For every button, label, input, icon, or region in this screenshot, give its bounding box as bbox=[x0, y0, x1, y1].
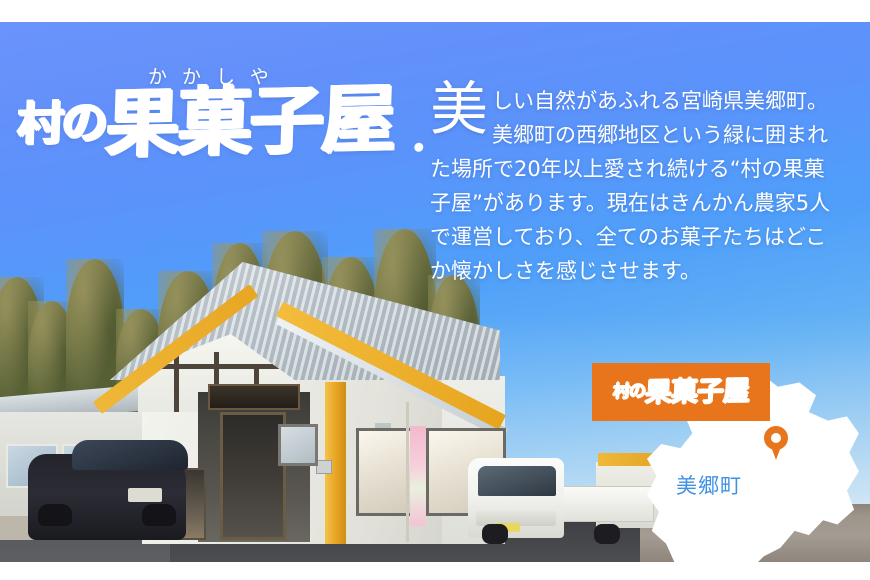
truck-windshield bbox=[478, 466, 556, 496]
description-drop-cap: 美 bbox=[430, 86, 488, 134]
entrance-door bbox=[220, 412, 286, 540]
building-window-small bbox=[278, 424, 318, 466]
badge-main: 果菓子屋 bbox=[644, 375, 749, 408]
brand-name-prefix: 村の bbox=[17, 95, 107, 151]
car-license-plate bbox=[128, 488, 162, 502]
car-rear-window bbox=[72, 440, 188, 470]
brand-badge-text: 村の果菓子屋 bbox=[612, 377, 749, 406]
truck-wheel bbox=[594, 524, 620, 544]
brand-name: 村の果菓子屋 bbox=[17, 82, 420, 164]
car-wheel bbox=[38, 504, 72, 526]
brand-name-main: 果菓子屋 bbox=[105, 76, 396, 168]
brand-logo: かかしや 村の果菓子屋 bbox=[18, 62, 418, 187]
brand-badge: 村の果菓子屋 bbox=[592, 363, 770, 421]
pin-hole bbox=[771, 433, 781, 443]
hero-banner: かかしや 村の果菓子屋 美 しい自然があふれる宮崎県美郷町。美郷町の西郷地区とい… bbox=[0, 0, 870, 580]
description-body: しい自然があふれる宮崎県美郷町。美郷町の西郷地区という緑に囲まれた場所で20年以… bbox=[430, 84, 842, 288]
wall-box bbox=[316, 460, 332, 474]
truck-wheel bbox=[482, 524, 508, 544]
location-pin-icon bbox=[764, 426, 788, 460]
badge-prefix: 村の bbox=[613, 381, 646, 402]
parked-car bbox=[28, 454, 186, 540]
pin-tail bbox=[769, 441, 783, 460]
map-region-label: 美郷町 bbox=[676, 470, 742, 500]
photo-hero: かかしや 村の果菓子屋 美 しい自然があふれる宮崎県美郷町。美郷町の西郷地区とい… bbox=[0, 22, 870, 562]
car-wheel bbox=[142, 504, 176, 526]
shop-banner bbox=[410, 426, 426, 526]
shop-signboard bbox=[208, 384, 300, 410]
description-line-1: しい自然があふれる宮崎県美郷町。 bbox=[492, 89, 828, 113]
kei-truck bbox=[468, 452, 650, 548]
banner-pole bbox=[406, 402, 409, 542]
description-text: 美 しい自然があふれる宮崎県美郷町。美郷町の西郷地区という緑に囲まれた場所で20… bbox=[430, 84, 842, 288]
